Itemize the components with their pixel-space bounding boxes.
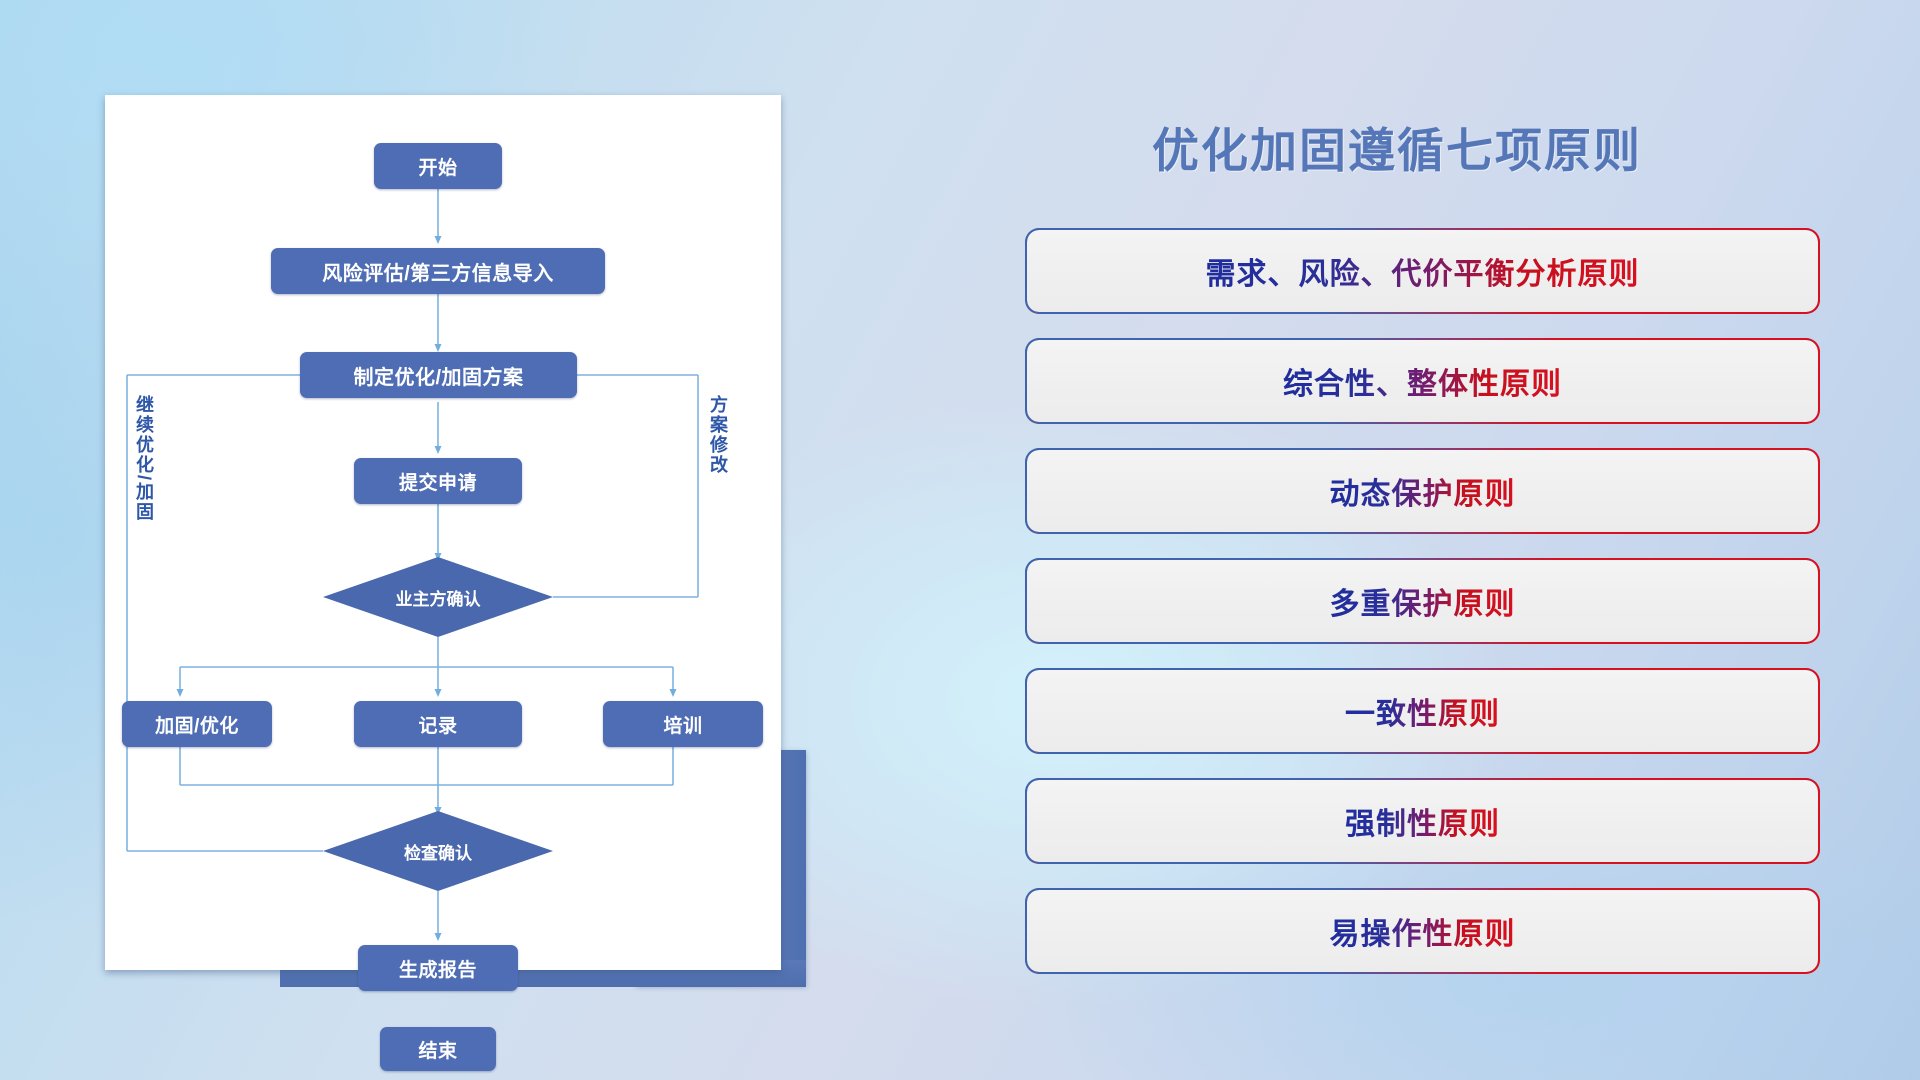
- flow-node-label: 开始: [418, 153, 457, 180]
- flow-label-continue-optimize: 继续优化/加固: [135, 395, 153, 522]
- principle-label: 动态保护原则: [1330, 469, 1516, 513]
- principle-card-1[interactable]: 需求、风险、代价平衡分析原则: [1025, 228, 1820, 314]
- flow-node-label: 提交申请: [399, 468, 477, 495]
- flow-node-generate-report[interactable]: 生成报告: [358, 945, 518, 991]
- principle-card-7[interactable]: 易操作性原则: [1025, 888, 1820, 974]
- flowchart-panel: 开始 风险评估/第三方信息导入 制定优化/加固方案 提交申请 业主方确认 加固/…: [105, 95, 781, 970]
- flow-node-plan[interactable]: 制定优化/加固方案: [300, 352, 577, 398]
- principle-label: 需求、风险、代价平衡分析原则: [1206, 249, 1640, 293]
- flow-node-harden-optimize[interactable]: 加固/优化: [122, 701, 272, 747]
- principle-card-5[interactable]: 一致性原则: [1025, 668, 1820, 754]
- flow-node-label: 培训: [663, 711, 702, 738]
- flow-node-start[interactable]: 开始: [374, 143, 502, 189]
- flow-node-training[interactable]: 培训: [603, 701, 763, 747]
- flow-node-risk-assessment[interactable]: 风险评估/第三方信息导入: [271, 248, 605, 294]
- flow-node-label: 检查确认: [404, 839, 472, 864]
- flow-node-label: 业主方确认: [396, 585, 481, 610]
- principle-label: 易操作性原则: [1330, 909, 1516, 953]
- principle-label: 多重保护原则: [1330, 579, 1516, 623]
- flow-node-record[interactable]: 记录: [354, 701, 522, 747]
- flow-node-label: 结束: [418, 1036, 457, 1063]
- flow-node-end[interactable]: 结束: [380, 1027, 496, 1071]
- flow-node-label: 生成报告: [399, 955, 477, 982]
- flowchart: 开始 风险评估/第三方信息导入 制定优化/加固方案 提交申请 业主方确认 加固/…: [105, 95, 781, 970]
- principles-list: 需求、风险、代价平衡分析原则 综合性、整体性原则 动态保护原则 多重保护原则 一…: [1025, 228, 1820, 998]
- principle-label: 一致性原则: [1345, 689, 1500, 733]
- flow-node-label: 加固/优化: [155, 711, 239, 738]
- principle-label: 综合性、整体性原则: [1283, 359, 1562, 403]
- page-title: 优化加固遵循七项原则: [1152, 112, 1642, 181]
- principle-label: 强制性原则: [1345, 799, 1500, 843]
- flow-node-label: 记录: [418, 711, 457, 738]
- flow-node-label: 风险评估/第三方信息导入: [322, 257, 554, 286]
- flow-node-label: 制定优化/加固方案: [353, 361, 523, 390]
- principle-card-4[interactable]: 多重保护原则: [1025, 558, 1820, 644]
- principle-card-3[interactable]: 动态保护原则: [1025, 448, 1820, 534]
- flow-node-submit-application[interactable]: 提交申请: [354, 458, 522, 504]
- principle-card-2[interactable]: 综合性、整体性原则: [1025, 338, 1820, 424]
- slide-canvas: 开始 风险评估/第三方信息导入 制定优化/加固方案 提交申请 业主方确认 加固/…: [0, 0, 1920, 1080]
- flow-label-plan-revision: 方案修改: [709, 395, 727, 475]
- principle-card-6[interactable]: 强制性原则: [1025, 778, 1820, 864]
